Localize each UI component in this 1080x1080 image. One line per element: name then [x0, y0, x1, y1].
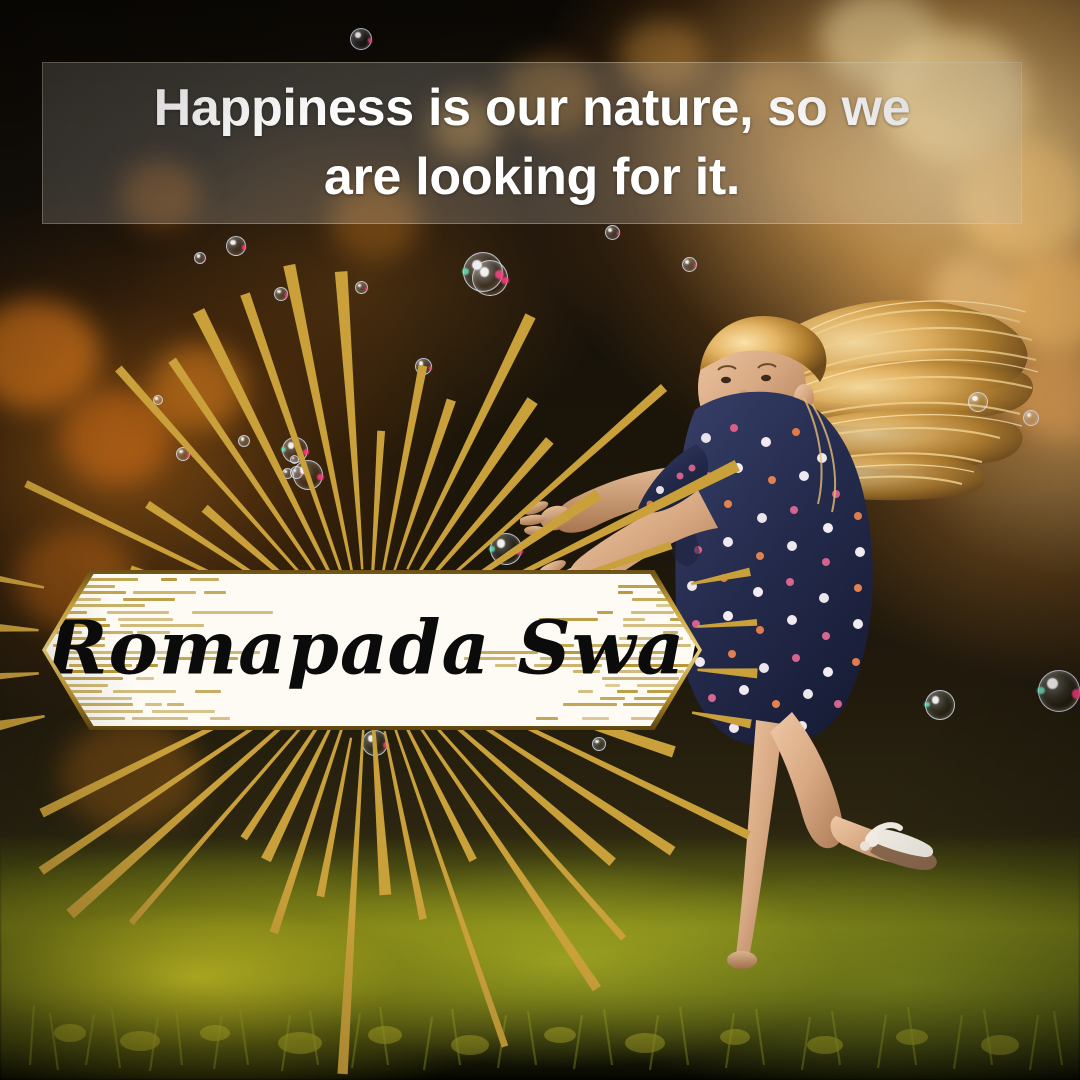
banner-stroke [52, 703, 134, 706]
banner-stroke [190, 578, 219, 581]
banner-stroke [64, 591, 126, 594]
sunburst-ray [240, 292, 348, 590]
banner-stroke [161, 578, 177, 581]
sunburst-ray [335, 271, 364, 569]
banner-stroke [536, 717, 558, 720]
quote-line-1: Happiness is our nature, so we [154, 79, 911, 137]
banner-inner-panel: Romapada Swami [46, 574, 698, 726]
sunburst-ray [0, 672, 39, 682]
sunburst-ray [316, 737, 352, 897]
name-banner: Romapada Swami [42, 570, 702, 730]
sunburst-ray [0, 715, 45, 734]
sunburst-ray [407, 397, 538, 590]
banner-stroke [132, 717, 189, 720]
banner-stroke [62, 578, 138, 581]
banner-stroke [204, 591, 226, 594]
quote-text: Happiness is our nature, so we are looki… [128, 74, 937, 211]
banner-stroke [563, 703, 617, 706]
banner-stroke [152, 710, 216, 713]
sunburst-ray [697, 619, 757, 628]
banner-stroke [133, 591, 196, 594]
banner-stroke [61, 710, 143, 713]
banner-stroke [167, 703, 184, 706]
banner-stroke [123, 598, 174, 601]
banner-stroke [56, 697, 133, 700]
banner-stroke [210, 717, 230, 720]
quote-overlay-box: Happiness is our nature, so we are looki… [42, 62, 1022, 224]
sunburst-ray [371, 431, 386, 588]
banner-stroke [669, 578, 689, 581]
banner-stroke [618, 585, 682, 588]
banner-stroke [657, 591, 687, 594]
sunburst-ray [0, 622, 39, 632]
sunburst-ray [390, 716, 509, 1048]
speaker-name: Romapada Swami [46, 605, 698, 691]
sunburst-ray [371, 707, 391, 896]
banner-stroke [618, 591, 633, 594]
quote-line-2: are looking for it. [324, 148, 740, 206]
quote-graphic: Romapada Swami Happiness is our nature, … [0, 0, 1080, 1080]
banner-stroke [582, 717, 610, 720]
banner-stroke [59, 717, 126, 720]
sunburst-ray [697, 668, 757, 678]
sunburst-ray [0, 573, 44, 589]
sunburst-ray [408, 695, 626, 941]
banner-stroke [600, 697, 625, 700]
banner-stroke [145, 703, 162, 706]
